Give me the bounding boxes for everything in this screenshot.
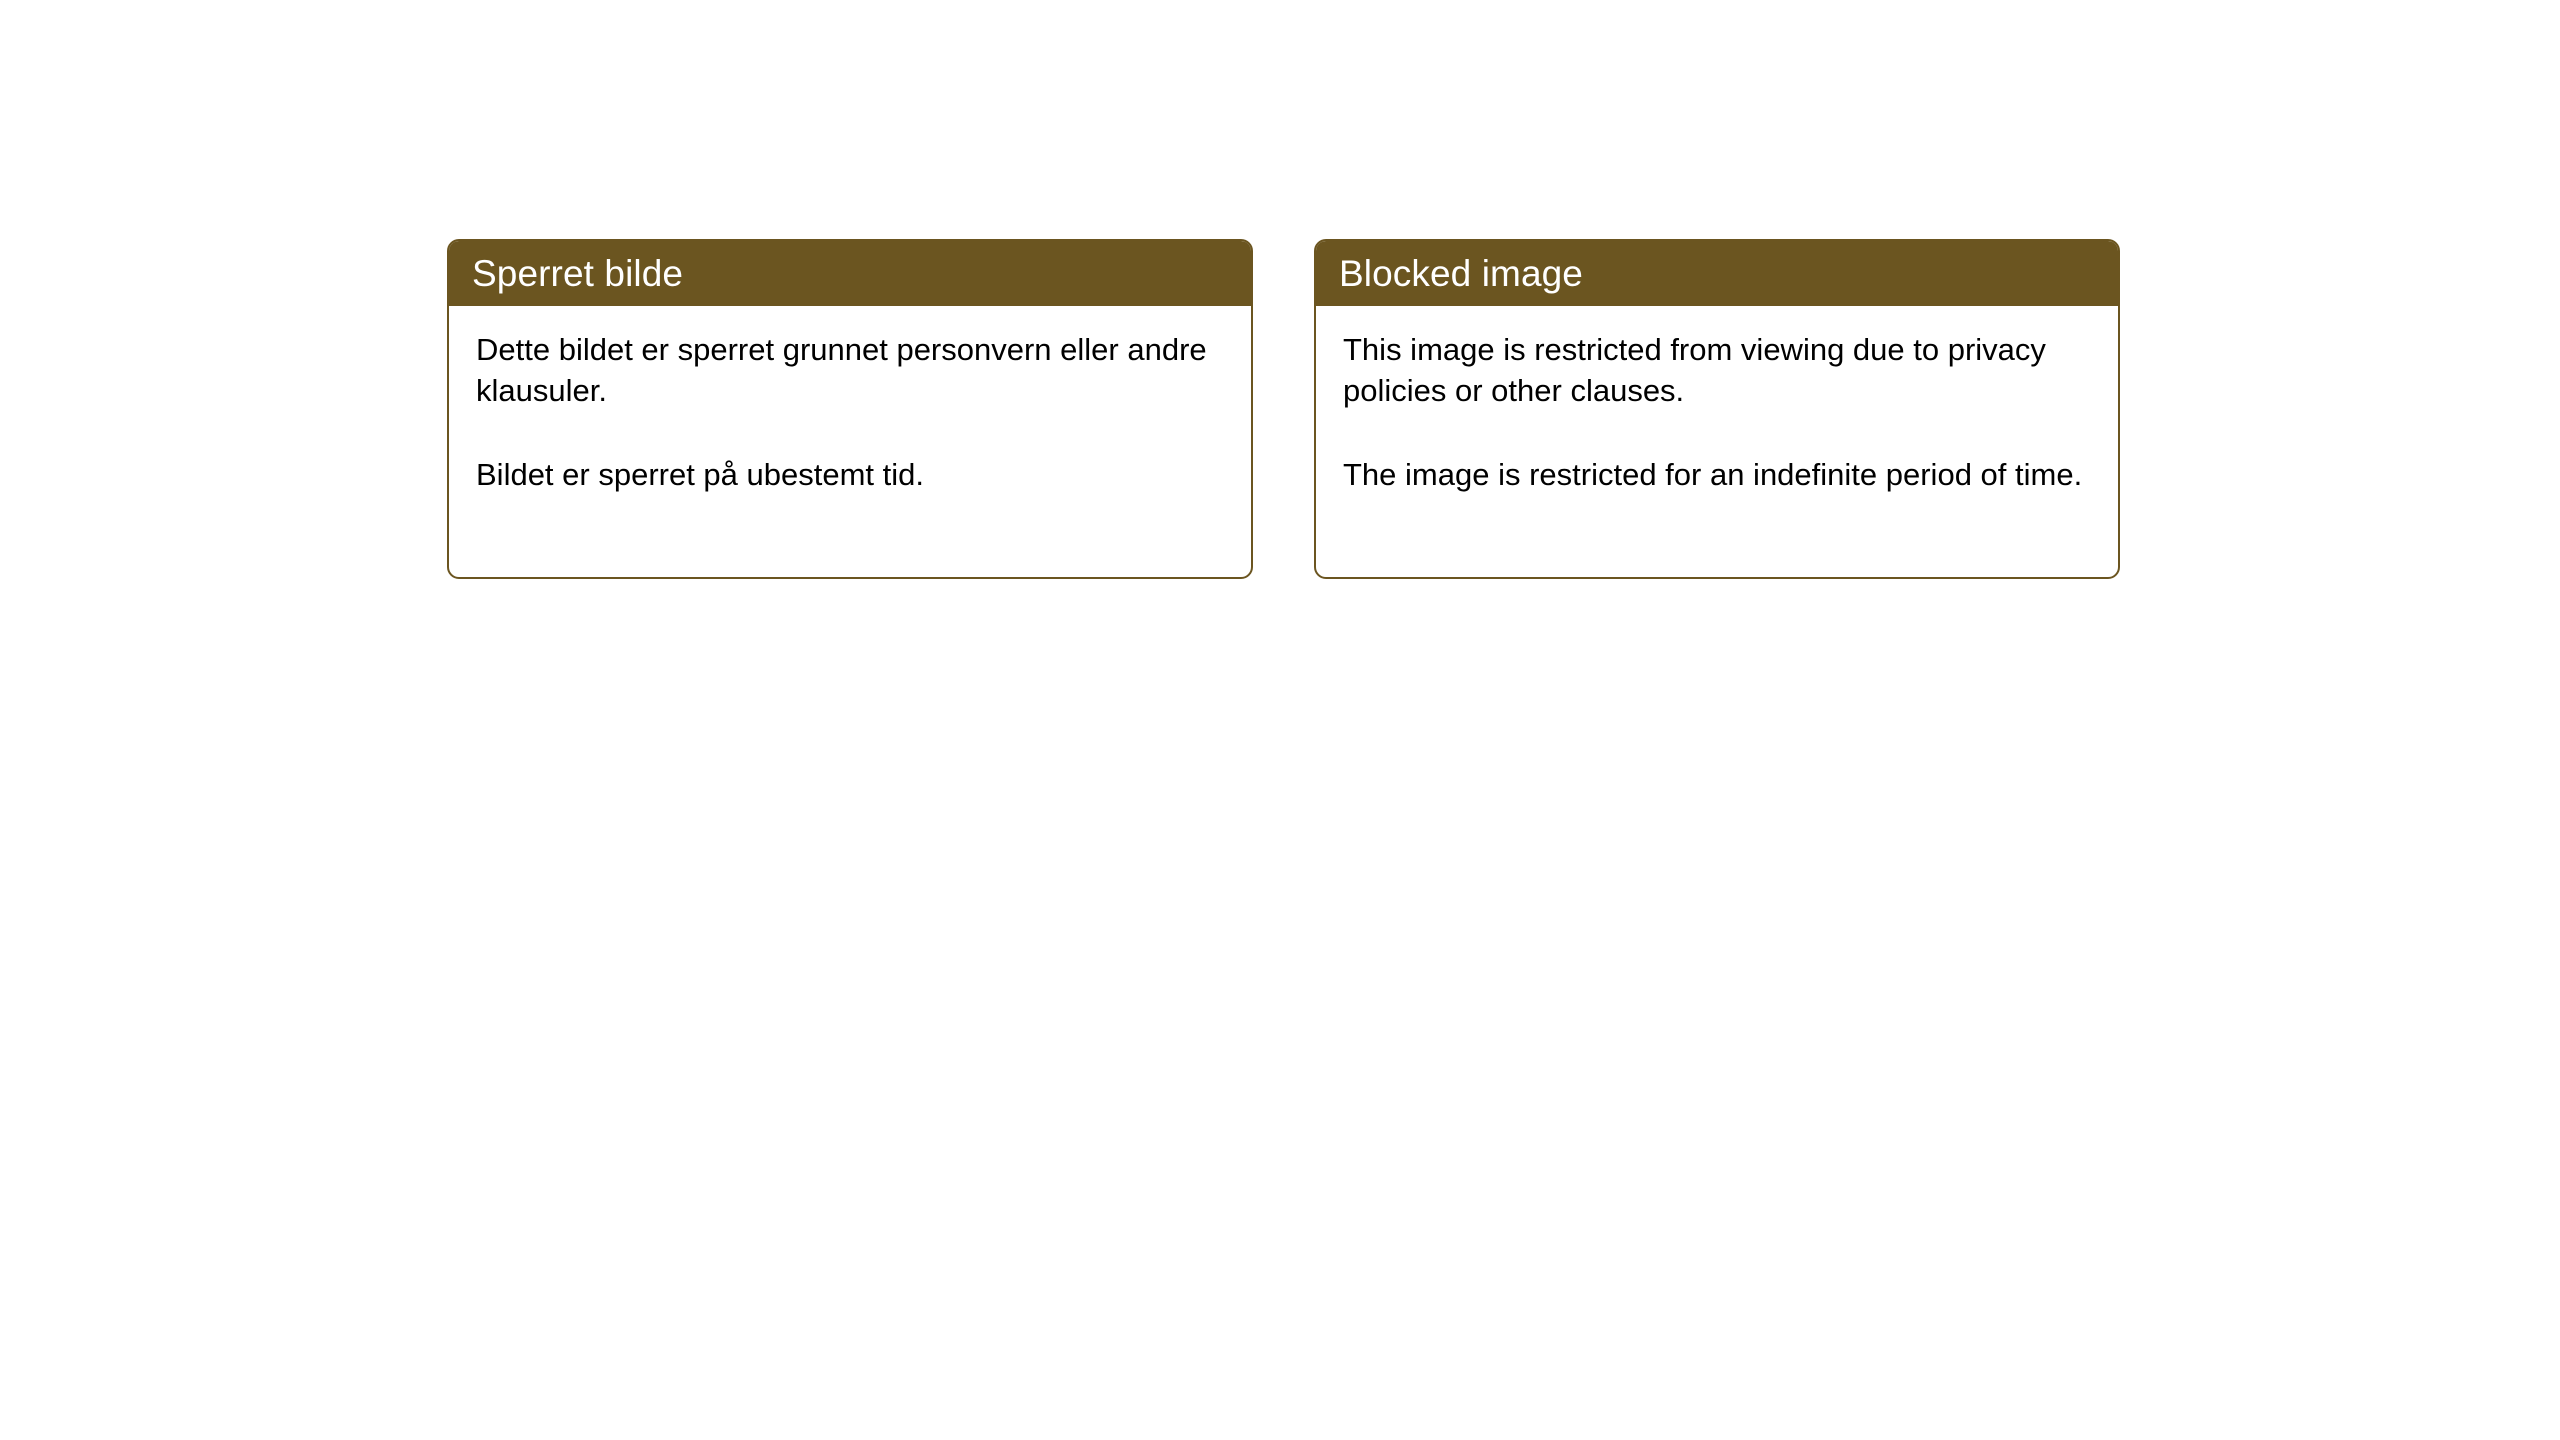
card-paragraph-reason-english: This image is restricted from viewing du… bbox=[1343, 329, 2092, 411]
card-paragraph-duration-norwegian: Bildet er sperret på ubestemt tid. bbox=[476, 454, 1225, 495]
card-body-norwegian: Dette bildet er sperret grunnet personve… bbox=[449, 306, 1251, 577]
blocked-image-notice-group: Sperret bilde Dette bildet er sperret gr… bbox=[447, 239, 2120, 579]
card-paragraph-duration-english: The image is restricted for an indefinit… bbox=[1343, 454, 2092, 495]
card-body-english: This image is restricted from viewing du… bbox=[1316, 306, 2118, 577]
blocked-image-card-english: Blocked image This image is restricted f… bbox=[1314, 239, 2120, 579]
card-paragraph-reason-norwegian: Dette bildet er sperret grunnet personve… bbox=[476, 329, 1225, 411]
card-title-norwegian: Sperret bilde bbox=[449, 241, 1251, 306]
card-title-english: Blocked image bbox=[1316, 241, 2118, 306]
page-root: Sperret bilde Dette bildet er sperret gr… bbox=[0, 0, 2560, 1440]
blocked-image-card-norwegian: Sperret bilde Dette bildet er sperret gr… bbox=[447, 239, 1253, 579]
